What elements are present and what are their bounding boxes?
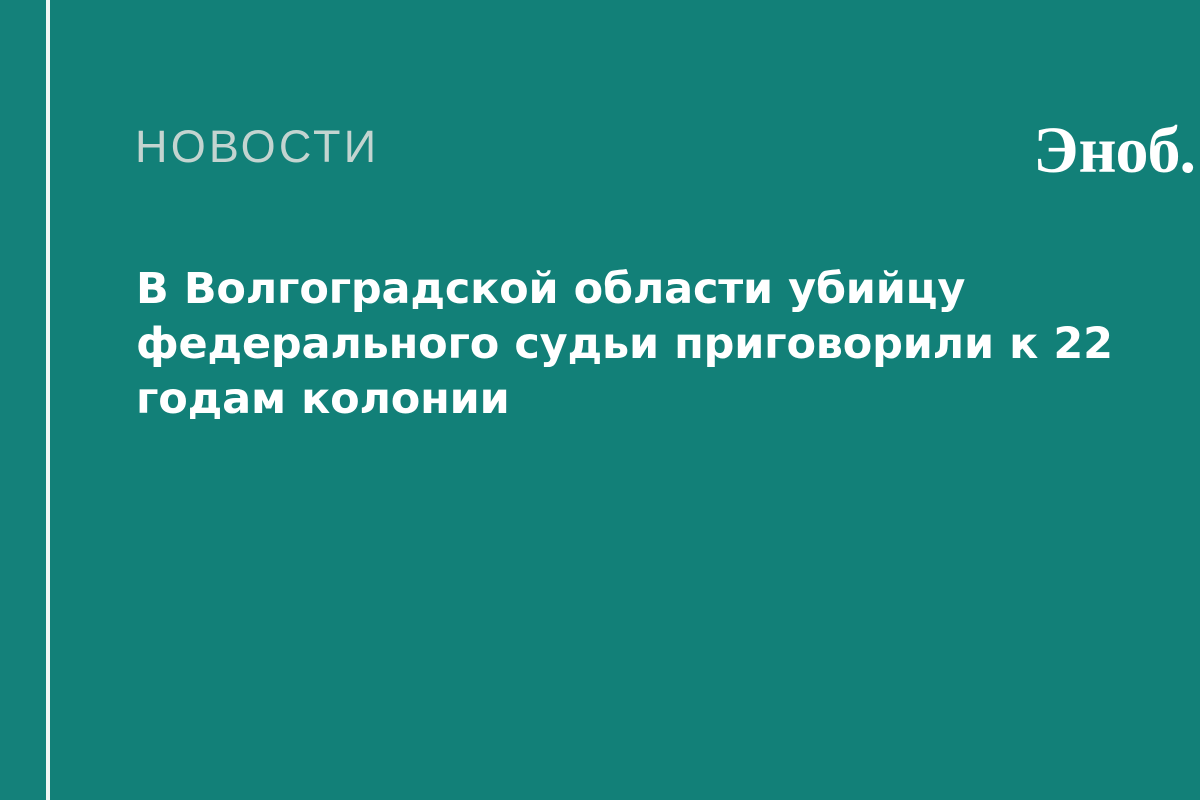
left-accent-column [0,0,46,800]
brand-logo-text: ноб. [1078,114,1195,187]
section-kicker-news: НОВОСТИ [135,122,379,172]
card-header: НОВОСТИ Єноб. [135,122,1195,192]
news-share-card: НОВОСТИ Єноб. В Волгоградской области уб… [0,0,1200,800]
page-title: В Волгоградской области убийцу федеральн… [136,262,1146,427]
card-surface: НОВОСТИ Єноб. В Волгоградской области уб… [50,0,1200,800]
brand-logo-initial-glyph: Є [1035,114,1079,188]
brand-logo-snob[interactable]: Єноб. [1035,114,1195,188]
